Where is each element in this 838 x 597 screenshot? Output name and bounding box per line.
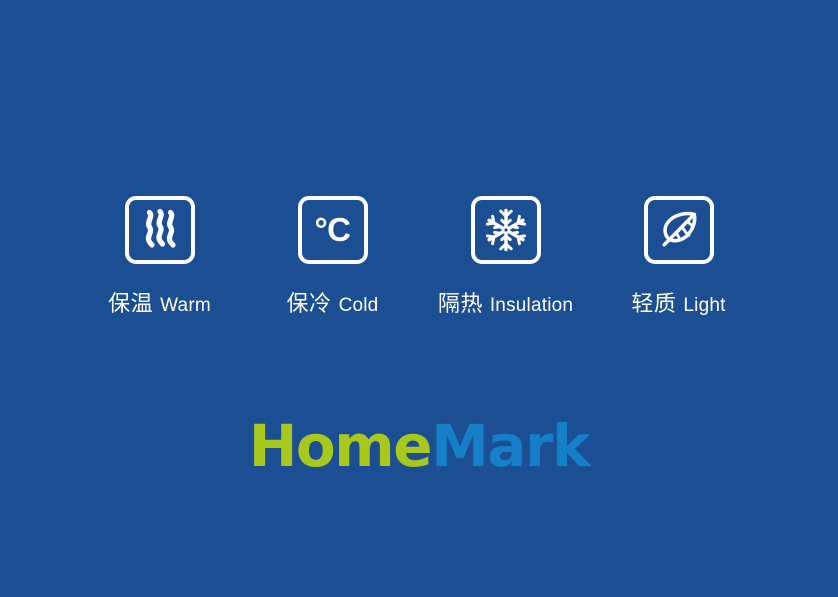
feature-item-warm: 保温 Warm — [73, 196, 246, 318]
feature-label-en: Insulation — [490, 295, 573, 317]
icon-frame-warm — [125, 196, 195, 264]
feature-label-cn: 保温 — [108, 286, 153, 318]
feature-list: 保温 Warm °C 保冷 Cold — [0, 196, 838, 318]
snowflake-icon — [484, 208, 528, 252]
celsius-degree-icon: °C — [314, 213, 350, 246]
logo-text-mark: Mark — [431, 412, 589, 480]
feather-leaf-icon — [658, 209, 700, 251]
icon-frame-insulation — [471, 196, 541, 264]
feature-label-en: Cold — [339, 295, 379, 317]
feature-item-light: 轻质 Light — [592, 196, 765, 318]
feature-label-cn: 保冷 — [287, 286, 332, 318]
feature-item-cold: °C 保冷 Cold — [246, 196, 419, 318]
icon-frame-cold: °C — [298, 196, 368, 264]
feature-item-insulation: 隔热 Insulation — [419, 196, 592, 318]
feature-label-en: Light — [683, 295, 725, 317]
feature-label-cn: 轻质 — [631, 286, 676, 318]
icon-frame-light — [644, 196, 714, 264]
heat-waves-icon — [140, 209, 180, 251]
feature-label-cn: 隔热 — [438, 286, 483, 318]
feature-caption-warm: 保温 Warm — [108, 286, 211, 318]
logo-text-home: Home — [249, 412, 431, 480]
poster-canvas: 保温 Warm °C 保冷 Cold — [0, 0, 838, 597]
brand-logo: HomeMark — [0, 417, 838, 475]
feature-caption-light: 轻质 Light — [631, 286, 725, 318]
feature-label-en: Warm — [160, 295, 211, 317]
feature-caption-cold: 保冷 Cold — [287, 286, 379, 318]
feature-caption-insulation: 隔热 Insulation — [438, 286, 573, 318]
